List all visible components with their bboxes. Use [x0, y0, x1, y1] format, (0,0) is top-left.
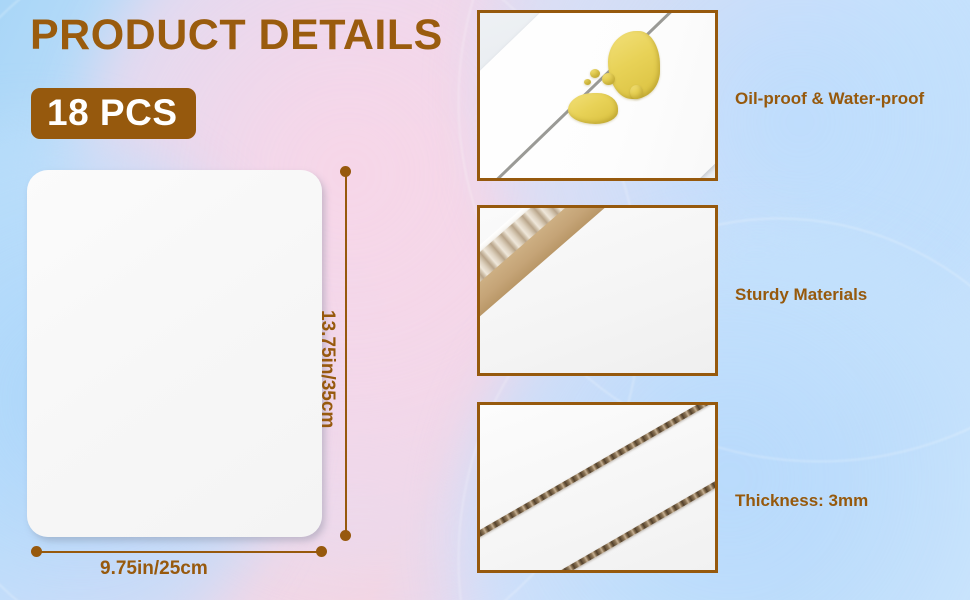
feature-caption-oil-proof: Oil-proof & Water-proof — [735, 89, 924, 109]
oil-drop-small-2 — [602, 73, 615, 85]
width-dimension-dot-left — [31, 546, 42, 557]
photo-corrugated-cardboard-edge — [480, 208, 715, 373]
feature-photo-sturdy-materials — [477, 205, 718, 376]
height-dimension-dot-top — [340, 166, 351, 177]
quantity-badge: 18 PCS — [31, 88, 196, 139]
height-dimension-label: 13.75in/35cm — [316, 310, 338, 428]
oil-drop-medium — [568, 93, 618, 124]
photo-backdrop — [480, 405, 715, 570]
oil-drop-small-3 — [630, 85, 643, 99]
width-dimension-label: 9.75in/25cm — [100, 558, 208, 580]
width-dimension-dot-right — [316, 546, 327, 557]
feature-caption-sturdy-materials: Sturdy Materials — [735, 285, 867, 305]
height-dimension-dot-bottom — [340, 530, 351, 541]
oil-drop-small-1 — [590, 69, 600, 78]
photo-white-board-corner-with-oil-drops — [480, 13, 715, 178]
oil-drop-small-4 — [584, 79, 591, 85]
product-board-image — [27, 170, 322, 537]
page-title: PRODUCT DETAILS — [30, 14, 443, 57]
feature-photo-oil-proof — [477, 10, 718, 181]
feature-photo-thickness — [477, 402, 718, 573]
photo-two-thin-corrugated-edges — [480, 405, 715, 570]
height-dimension-line — [345, 172, 347, 536]
width-dimension-line — [36, 551, 321, 553]
feature-caption-thickness: Thickness: 3mm — [735, 491, 868, 511]
infographic-canvas: PRODUCT DETAILS 18 PCS 13.75in/35cm 9.75… — [0, 0, 970, 600]
